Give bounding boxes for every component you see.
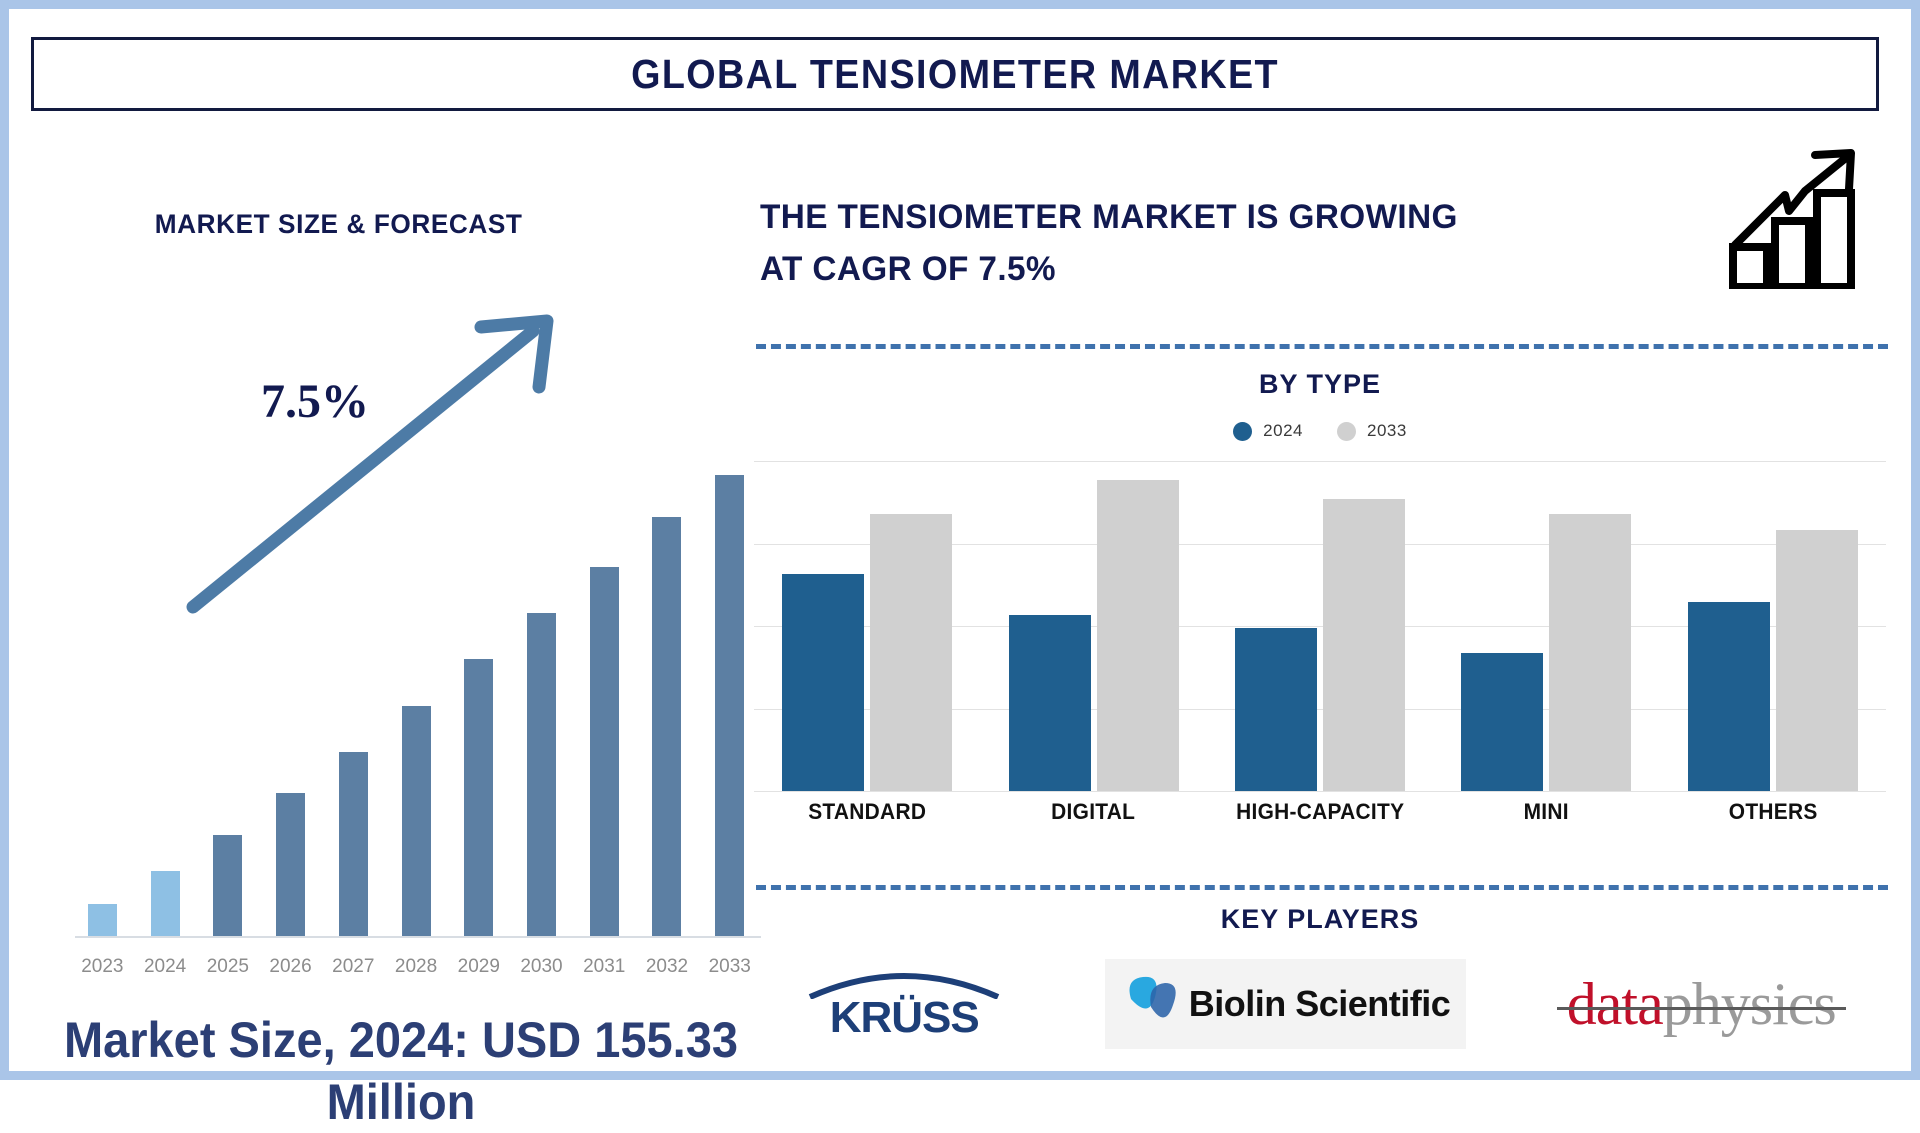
- cagr-headline-line2: AT CAGR OF 7.5%: [760, 243, 1671, 295]
- legend-label: 2033: [1367, 421, 1407, 441]
- by-type-bar-2024: [1461, 653, 1543, 791]
- bar-slot: [636, 429, 699, 936]
- by-type-bar-2033: [870, 514, 952, 791]
- by-type-bar-2033: [1097, 480, 1179, 791]
- category-label: MINI: [1439, 799, 1654, 825]
- divider-bottom: [756, 885, 1888, 890]
- market-size-bar: [652, 517, 681, 936]
- by-type-bar-2024: [1688, 602, 1770, 791]
- market-size-bar: [590, 567, 619, 936]
- market-size-bar: [339, 752, 368, 936]
- bar-slot: [196, 429, 259, 936]
- category-label: DIGITAL: [986, 799, 1201, 825]
- bar-slot: [385, 429, 448, 936]
- bar-track: [71, 429, 761, 936]
- biolin-swirl-icon: [1121, 969, 1183, 1039]
- bar-group: [754, 461, 980, 791]
- bar-chart-growth-icon: [1729, 149, 1859, 289]
- year-label: 2033: [698, 956, 761, 978]
- year-label: 2026: [259, 956, 322, 978]
- legend-item[interactable]: 2033: [1337, 421, 1407, 441]
- year-label: 2025: [196, 956, 259, 978]
- divider-top: [756, 344, 1888, 349]
- category-label: OTHERS: [1665, 799, 1880, 825]
- bar-slot: [447, 429, 510, 936]
- kruss-label: KRÜSS: [830, 993, 979, 1043]
- bar-slot: [259, 429, 322, 936]
- market-size-bar: [527, 613, 556, 936]
- market-size-bar: [276, 793, 305, 936]
- player-dataphysics: dataphysics: [1567, 952, 1836, 1057]
- page-title: GLOBAL TENSIOMETER MARKET: [631, 51, 1279, 98]
- market-size-forecast-heading: MARKET SIZE & FORECAST: [155, 209, 523, 240]
- market-size-bar: [213, 835, 242, 936]
- year-label: 2030: [510, 956, 573, 978]
- by-type-panel: THE TENSIOMETER MARKET IS GROWING AT CAG…: [754, 129, 1904, 1059]
- key-players-title: KEY PLAYERS: [754, 904, 1886, 935]
- gridline: [754, 791, 1886, 792]
- market-size-bar: [402, 706, 431, 936]
- market-size-bar: [715, 475, 744, 936]
- market-size-bar-chart: 2023202420252026202720282029203020312032…: [71, 429, 761, 984]
- market-size-bar: [88, 904, 117, 936]
- year-label: 2032: [636, 956, 699, 978]
- year-label: 2023: [71, 956, 134, 978]
- by-type-title: BY TYPE: [754, 369, 1886, 400]
- by-type-bar-2033: [1323, 499, 1405, 791]
- market-size-bar: [151, 871, 180, 936]
- market-size-forecast-panel: MARKET SIZE & FORECAST 7.5% 202320242025…: [31, 129, 771, 1059]
- year-axis-labels: 2023202420252026202720282029203020312032…: [71, 956, 761, 978]
- category-label: STANDARD: [760, 799, 975, 825]
- bar-slot: [573, 429, 636, 936]
- legend-label: 2024: [1263, 421, 1303, 441]
- dataphysics-strike-line: [1557, 1007, 1846, 1010]
- bar-slot: [510, 429, 573, 936]
- infographic-page: GLOBAL TENSIOMETER MARKET MARKET SIZE & …: [0, 0, 1920, 1080]
- biolin-label: Biolin Scientific: [1189, 983, 1451, 1025]
- year-label: 2027: [322, 956, 385, 978]
- by-type-legend: 20242033: [754, 421, 1886, 441]
- title-box: GLOBAL TENSIOMETER MARKET: [31, 37, 1879, 111]
- year-label: 2031: [573, 956, 636, 978]
- by-type-bar-2024: [1009, 615, 1091, 791]
- cagr-headline: THE TENSIOMETER MARKET IS GROWING AT CAG…: [760, 191, 1671, 295]
- player-kruss: KRÜSS: [804, 952, 1004, 1057]
- bar-slot: [71, 429, 134, 936]
- by-type-category-labels: STANDARDDIGITALHIGH-CAPACITYMINIOTHERS: [754, 799, 1886, 825]
- bar-group: [1207, 461, 1433, 791]
- market-size-bar: [464, 659, 493, 936]
- dataphysics-label: dataphysics: [1567, 970, 1836, 1039]
- player-biolin-scientific: Biolin Scientific: [1105, 952, 1467, 1057]
- market-size-value: Market Size, 2024: USD 155.33 Million: [63, 1009, 740, 1133]
- bar-group: [1660, 461, 1886, 791]
- bar-slot: [322, 429, 385, 936]
- bar-slot: [698, 429, 761, 936]
- by-type-bar-2033: [1776, 530, 1858, 791]
- key-players-logos: KRÜSS Biolin Scientific dataphysics: [754, 949, 1886, 1059]
- bar-group: [980, 461, 1206, 791]
- legend-dot-icon: [1337, 422, 1356, 441]
- legend-item[interactable]: 2024: [1233, 421, 1303, 441]
- by-type-bar-2033: [1549, 514, 1631, 791]
- year-label: 2024: [134, 956, 197, 978]
- year-label: 2028: [385, 956, 448, 978]
- dataphysics-label-part1: data: [1567, 971, 1663, 1037]
- bar-slot: [134, 429, 197, 936]
- year-label: 2029: [447, 956, 510, 978]
- by-type-bar-chart: [754, 461, 1886, 791]
- cagr-headline-line1: THE TENSIOMETER MARKET IS GROWING: [760, 191, 1671, 243]
- legend-dot-icon: [1233, 422, 1252, 441]
- bar-group: [1433, 461, 1659, 791]
- by-type-bar-2024: [1235, 628, 1317, 791]
- dataphysics-label-part2: physics: [1663, 971, 1836, 1037]
- chart-baseline: [75, 936, 761, 938]
- category-label: HIGH-CAPACITY: [1212, 799, 1427, 825]
- by-type-bar-2024: [782, 574, 864, 791]
- grouped-bar-plot: [754, 461, 1886, 791]
